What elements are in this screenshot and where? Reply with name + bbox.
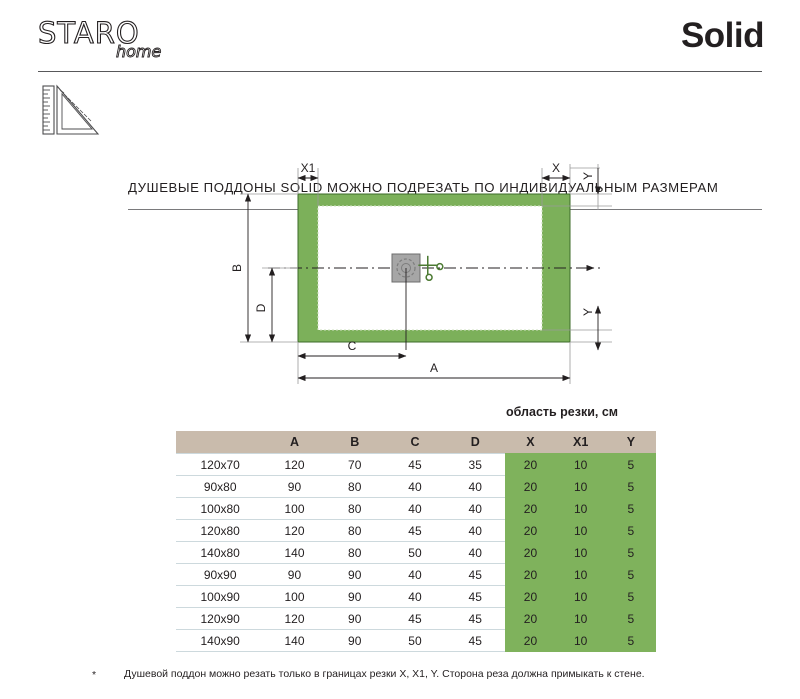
dimension-label-x1: X1 [301,161,316,175]
cell-y: 5 [606,498,656,520]
page-header: STARO home Solid [0,0,800,72]
cell-d: 45 [445,630,505,652]
dimension-label-y-top: Y [581,172,595,180]
table-row: 90x909090404520105 [176,564,656,586]
cell-b: 80 [325,476,385,498]
column-header-c: C [385,431,445,454]
cell-a: 120 [264,454,324,476]
table-row: 90x809080404020105 [176,476,656,498]
cell-x1: 10 [556,498,606,520]
cell-size: 140x90 [176,630,264,652]
cell-d: 40 [445,498,505,520]
cell-c: 45 [385,608,445,630]
footnote-marker: * [92,669,96,681]
cut-zone-title: область резки, см [506,405,618,419]
cell-x: 20 [505,542,555,564]
cell-y: 5 [606,586,656,608]
cell-x: 20 [505,608,555,630]
cell-d: 40 [445,542,505,564]
cell-c: 50 [385,542,445,564]
cell-size: 120x80 [176,520,264,542]
column-header-x: X [505,431,555,454]
cell-x1: 10 [556,454,606,476]
cell-a: 100 [264,586,324,608]
header-divider [38,71,762,72]
cell-b: 80 [325,498,385,520]
table-row: 120x9012090454520105 [176,608,656,630]
cell-a: 120 [264,608,324,630]
column-header-y: Y [606,431,656,454]
cell-a: 90 [264,476,324,498]
cell-d: 35 [445,454,505,476]
table-row: 140x9014090504520105 [176,630,656,652]
cell-c: 40 [385,564,445,586]
cell-a: 100 [264,498,324,520]
logo-subtitle: home [116,42,161,61]
cell-a: 140 [264,542,324,564]
dimension-label-b: B [230,264,244,272]
cell-b: 70 [325,454,385,476]
cell-y: 5 [606,564,656,586]
footnote-text: Душевой поддон можно резать только в гра… [124,668,645,680]
cell-x: 20 [505,564,555,586]
cell-size: 100x90 [176,586,264,608]
cell-d: 40 [445,520,505,542]
specs-table-body: 120x701207045352010590x80908040402010510… [176,454,656,652]
cell-x1: 10 [556,476,606,498]
cell-y: 5 [606,520,656,542]
cell-x1: 10 [556,564,606,586]
cell-size: 140x80 [176,542,264,564]
table-header-row: A B C D X X1 Y [176,431,656,454]
cell-b: 90 [325,564,385,586]
dimension-label-c: C [348,339,357,353]
cell-b: 80 [325,542,385,564]
column-header-size [176,431,264,454]
cell-x: 20 [505,630,555,652]
table-row: 100x9010090404520105 [176,586,656,608]
cell-d: 45 [445,586,505,608]
column-header-a: A [264,431,324,454]
cell-x: 20 [505,454,555,476]
cell-d: 40 [445,476,505,498]
cell-d: 45 [445,564,505,586]
cell-x: 20 [505,520,555,542]
cell-d: 45 [445,608,505,630]
column-header-x1: X1 [556,431,606,454]
banner-section: ДУШЕВЫЕ ПОДДОНЫ SOLID МОЖНО ПОДРЕЗАТЬ ПО… [0,78,800,140]
cell-size: 90x80 [176,476,264,498]
cell-x: 20 [505,498,555,520]
dimension-label-a: A [430,361,438,375]
cell-size: 120x70 [176,454,264,476]
cell-c: 40 [385,498,445,520]
cell-a: 140 [264,630,324,652]
cell-x1: 10 [556,542,606,564]
cell-size: 90x90 [176,564,264,586]
cell-a: 90 [264,564,324,586]
dimension-label-d: D [254,303,268,312]
cell-x: 20 [505,586,555,608]
table-row: 100x8010080404020105 [176,498,656,520]
cell-y: 5 [606,542,656,564]
cell-x1: 10 [556,520,606,542]
cell-size: 120x90 [176,608,264,630]
specs-table: A B C D X X1 Y 120x701207045352010590x80… [176,431,656,652]
cell-x1: 10 [556,586,606,608]
table-row: 120x7012070453520105 [176,454,656,476]
table-row: 140x8014080504020105 [176,542,656,564]
cell-c: 45 [385,454,445,476]
table-row: 120x8012080454020105 [176,520,656,542]
ruler-triangle-icon [40,82,112,138]
cell-b: 80 [325,520,385,542]
dimension-label-y-bottom: Y [581,308,595,316]
cell-x: 20 [505,476,555,498]
cell-c: 40 [385,476,445,498]
cell-b: 90 [325,586,385,608]
column-header-d: D [445,431,505,454]
cell-b: 90 [325,608,385,630]
cell-y: 5 [606,608,656,630]
cell-b: 90 [325,630,385,652]
column-header-b: B [325,431,385,454]
page-title: Solid [681,16,764,56]
cell-c: 40 [385,586,445,608]
cell-x1: 10 [556,630,606,652]
cell-y: 5 [606,476,656,498]
cell-a: 120 [264,520,324,542]
cell-y: 5 [606,454,656,476]
dimension-label-x: X [552,161,560,175]
cell-x1: 10 [556,608,606,630]
shower-tray-technical-drawing: X1 X Y Y B D C A [0,150,800,395]
staro-home-logo: STARO home [38,16,228,64]
cell-y: 5 [606,630,656,652]
cell-c: 50 [385,630,445,652]
cell-c: 45 [385,520,445,542]
cell-size: 100x80 [176,498,264,520]
